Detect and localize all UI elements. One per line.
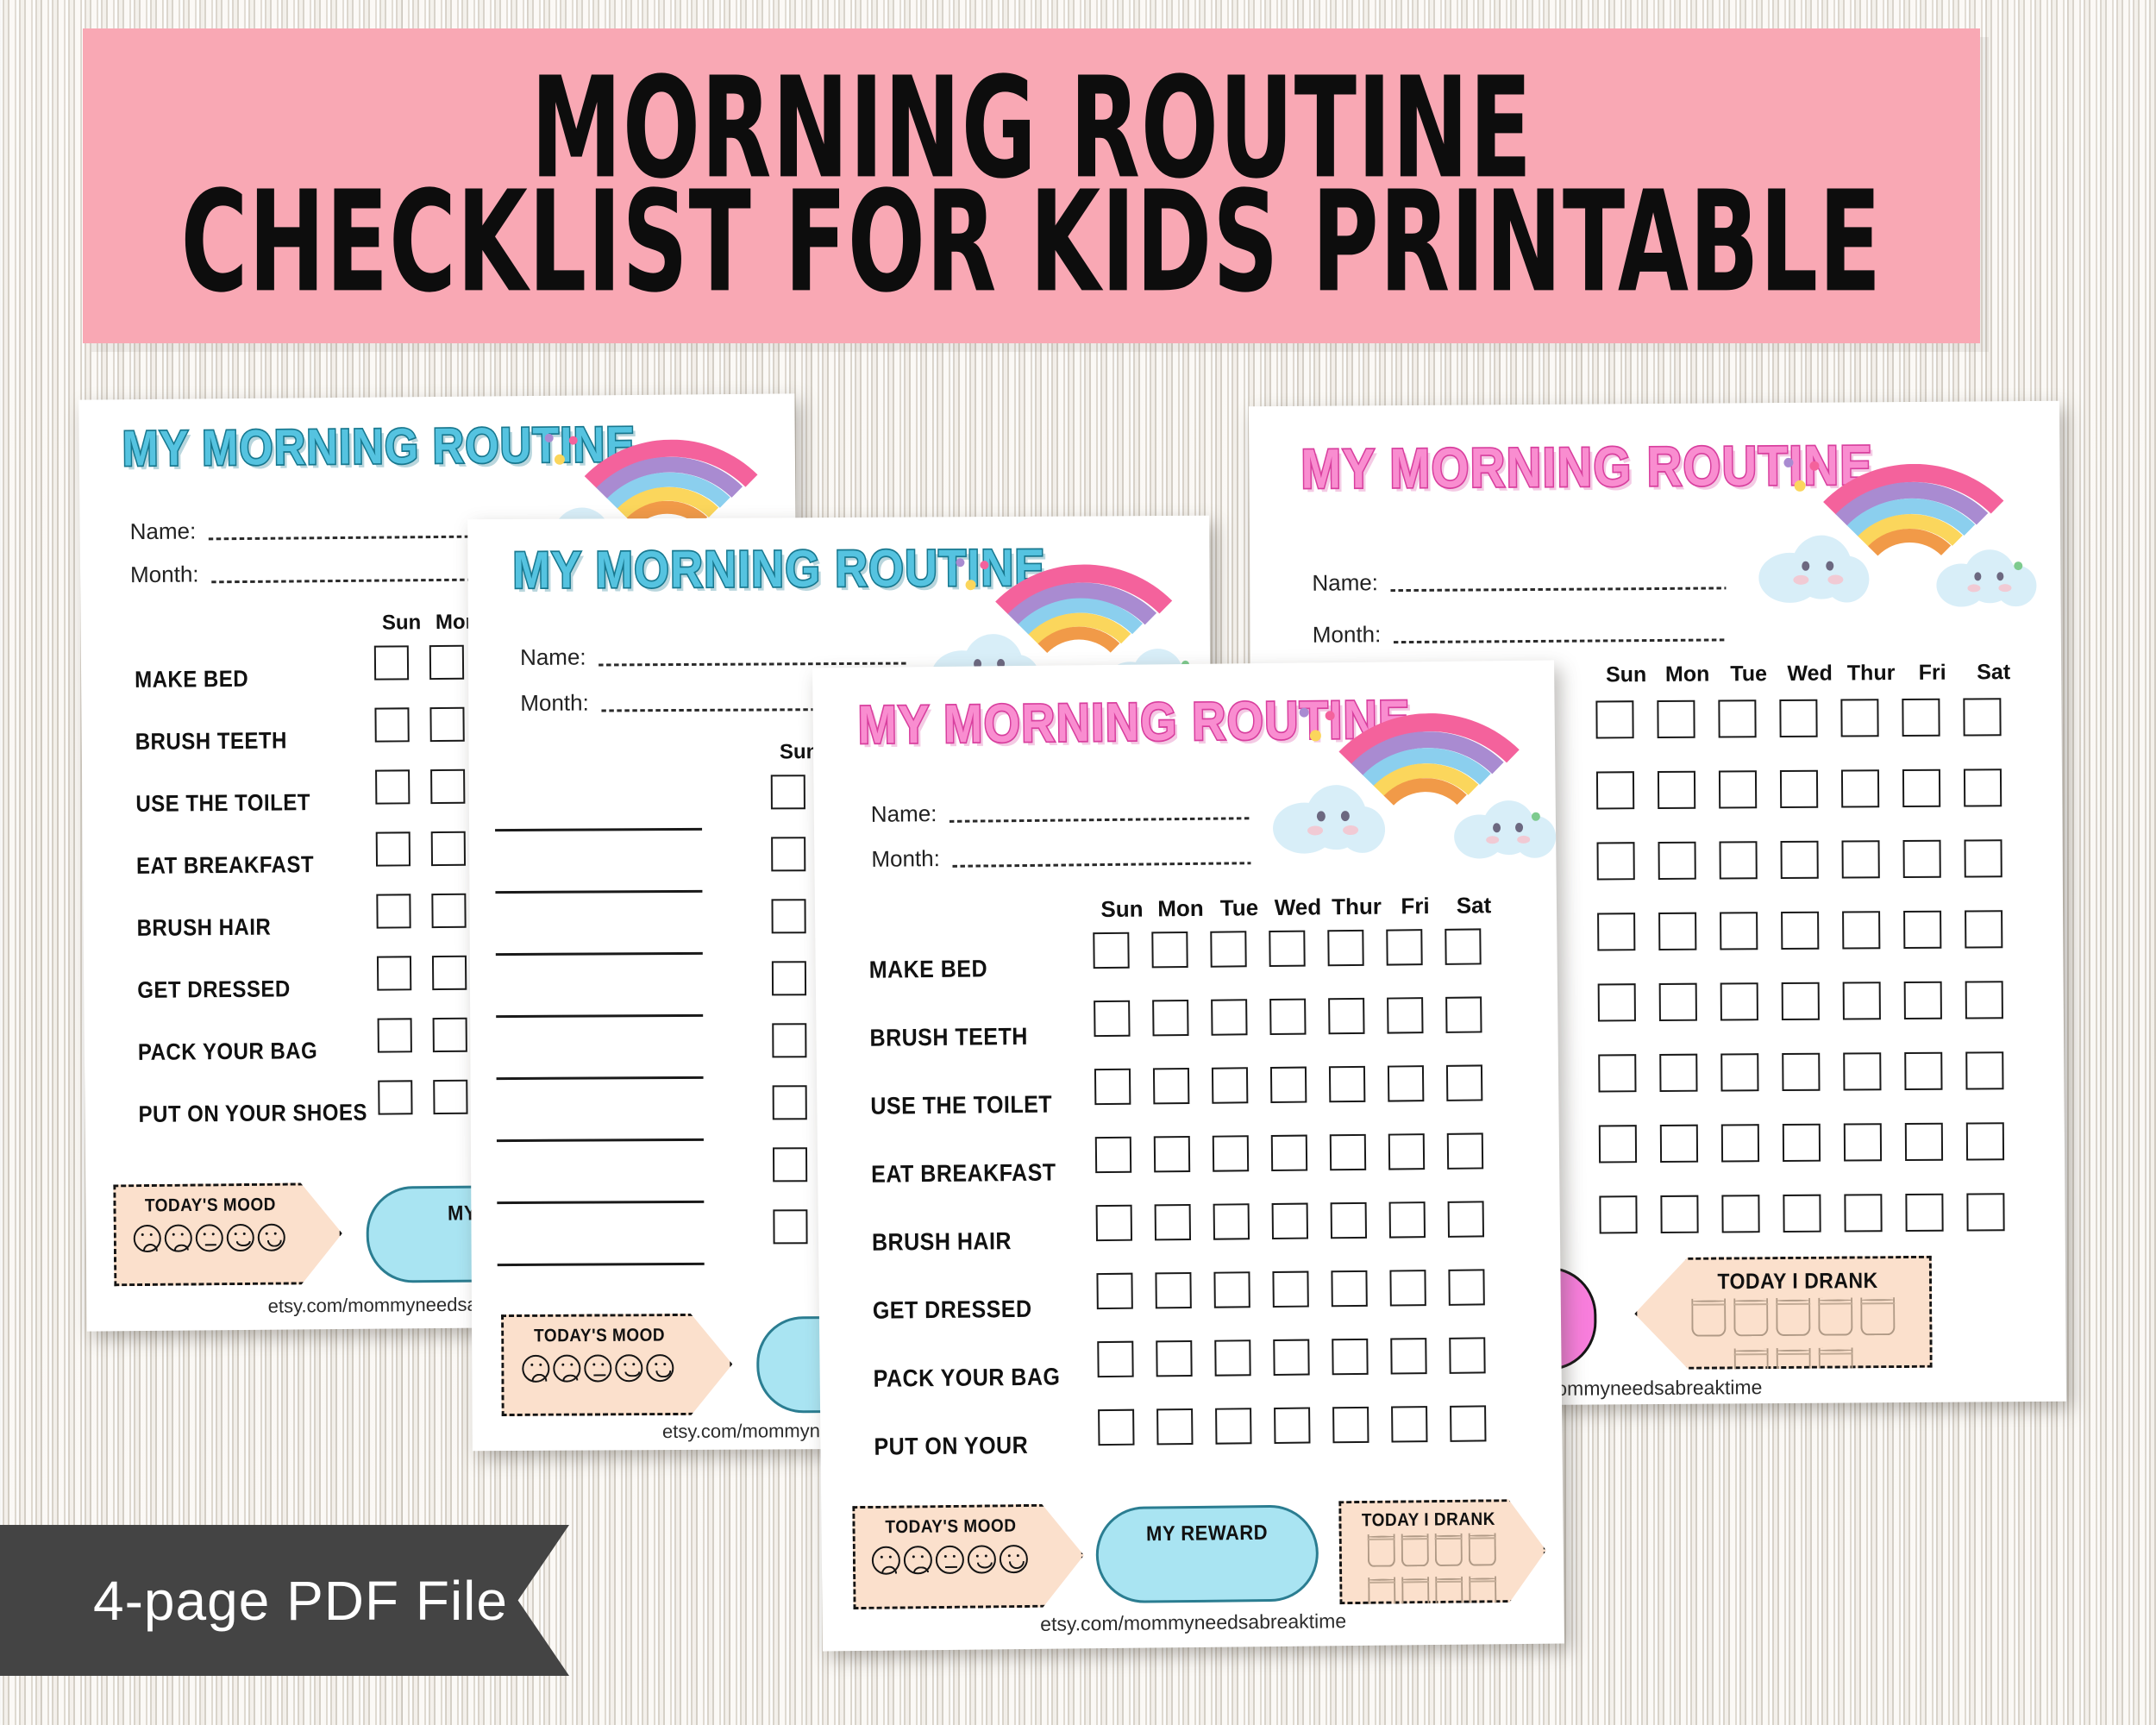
day-header: Fri	[1386, 893, 1445, 920]
mood-face-icon[interactable]	[226, 1224, 254, 1251]
blank-line	[496, 1014, 703, 1018]
day-checkbox[interactable]	[1721, 1124, 1759, 1162]
name-input-line[interactable]	[208, 535, 500, 540]
day-checkbox[interactable]	[1095, 1137, 1131, 1173]
day-checkbox[interactable]	[1782, 982, 1820, 1020]
sheet-2-name-field[interactable]: Name:	[520, 643, 908, 671]
day-checkbox[interactable]	[1330, 1134, 1366, 1170]
face-eye	[663, 1363, 666, 1365]
day-checkbox[interactable]	[1904, 1052, 1942, 1090]
water-cup-icon[interactable]	[1368, 1578, 1395, 1610]
write-in-line[interactable]	[495, 777, 745, 841]
mood-face-icon[interactable]	[257, 1224, 285, 1251]
day-checkbox[interactable]	[1271, 1135, 1307, 1171]
day-checkbox[interactable]	[1332, 1339, 1368, 1375]
face-eye	[274, 1233, 277, 1235]
mood-label: TODAY'S MOOD	[855, 1516, 1046, 1540]
sheet-4-checkbox-grid[interactable]	[1595, 698, 2031, 1266]
day-checkbox[interactable]	[429, 645, 464, 680]
day-checkbox[interactable]	[1783, 1124, 1821, 1162]
day-checkbox[interactable]	[1273, 1339, 1309, 1376]
day-checkbox[interactable]	[771, 837, 805, 871]
write-in-line[interactable]	[496, 901, 746, 965]
checkbox-row	[1096, 1201, 1527, 1241]
face-eye	[243, 1233, 246, 1235]
day-checkbox[interactable]	[1390, 1338, 1426, 1374]
write-in-line[interactable]	[496, 963, 746, 1027]
task-label: EAT BREAKFAST	[136, 830, 370, 901]
day-checkbox[interactable]	[1902, 769, 1940, 807]
checkbox-row	[1596, 768, 2028, 809]
day-checkbox[interactable]	[771, 775, 805, 809]
day-checkbox[interactable]	[1599, 1195, 1637, 1233]
day-checkbox[interactable]	[432, 956, 467, 990]
face-mouth	[143, 1244, 159, 1251]
day-checkbox[interactable]	[1274, 1408, 1310, 1444]
sheet-2-mood-widget[interactable]: TODAY'S MOOD	[501, 1314, 733, 1416]
day-checkbox[interactable]	[1331, 1270, 1367, 1307]
drank-label: TODAY I DRANK	[1341, 1509, 1515, 1532]
day-checkbox[interactable]	[1327, 930, 1363, 966]
day-checkbox[interactable]	[1963, 698, 2001, 736]
day-checkbox[interactable]	[1843, 1052, 1881, 1090]
day-checkbox[interactable]	[1270, 1067, 1307, 1103]
task-label: BRUSH HAIR	[136, 892, 370, 963]
day-checkbox[interactable]	[1902, 699, 1940, 737]
mood-face-icon[interactable]	[615, 1354, 642, 1382]
day-checkbox[interactable]	[1720, 982, 1758, 1020]
day-checkbox[interactable]	[1660, 1125, 1698, 1163]
face-eye	[539, 1364, 542, 1366]
day-checkbox[interactable]	[1659, 983, 1697, 1021]
task-label: PUT ON YOUR SHOES	[874, 1407, 1090, 1485]
checkbox-row	[1095, 1132, 1526, 1173]
day-checkbox[interactable]	[1094, 1069, 1131, 1105]
day-checkbox[interactable]	[1599, 1125, 1637, 1163]
day-checkbox[interactable]	[1215, 1408, 1251, 1444]
day-checkbox[interactable]	[772, 961, 806, 995]
mood-face-icon[interactable]	[584, 1354, 611, 1382]
sheet-4-name-field[interactable]: Name:	[1312, 567, 1726, 596]
day-checkbox[interactable]	[1213, 1203, 1250, 1239]
day-checkbox[interactable]	[431, 831, 466, 866]
day-checkbox[interactable]	[376, 894, 411, 928]
sheet-4-drank-widget[interactable]: TODAY I DRANK	[1634, 1256, 1933, 1370]
day-checkbox[interactable]	[1212, 1067, 1248, 1103]
month-input-line[interactable]	[952, 862, 1251, 868]
day-checkbox[interactable]	[1905, 1194, 1943, 1232]
day-checkbox[interactable]	[1779, 699, 1817, 737]
day-checkbox[interactable]	[1213, 1271, 1250, 1308]
day-checkbox[interactable]	[1155, 1204, 1191, 1240]
water-cup-icon[interactable]	[1733, 1298, 1768, 1336]
day-checkbox[interactable]	[1783, 1195, 1821, 1233]
day-checkbox[interactable]	[1844, 1194, 1882, 1232]
mood-face-icon[interactable]	[553, 1355, 580, 1383]
checkbox-row	[1596, 839, 2028, 880]
day-checkbox[interactable]	[1902, 840, 1940, 878]
write-in-line[interactable]	[497, 1212, 747, 1276]
month-label: Month:	[520, 690, 589, 717]
face-mouth	[563, 1375, 578, 1381]
mood-face-icon[interactable]	[646, 1354, 674, 1382]
day-header: Sun	[373, 611, 429, 636]
water-cup-icon[interactable]	[1435, 1577, 1463, 1609]
day-checkbox[interactable]	[773, 1085, 807, 1120]
day-checkbox[interactable]	[1450, 1405, 1486, 1441]
mood-face-icon[interactable]	[133, 1225, 160, 1252]
day-checkbox[interactable]	[773, 1147, 807, 1182]
day-checkbox[interactable]	[1449, 1337, 1485, 1373]
day-checkbox[interactable]	[1595, 700, 1633, 738]
day-checkbox[interactable]	[1391, 1406, 1427, 1442]
task-label: PUT ON YOUR SHOES	[138, 1078, 372, 1150]
sheet-2-write-in-lines[interactable]	[495, 777, 748, 1276]
day-checkbox[interactable]	[1445, 996, 1482, 1032]
task-label: PACK YOUR BAG	[873, 1339, 1089, 1417]
water-cup-icon[interactable]	[1818, 1297, 1852, 1335]
day-checkbox[interactable]	[1658, 913, 1696, 950]
day-checkbox[interactable]	[1658, 771, 1695, 809]
face-eye	[943, 1555, 946, 1558]
day-checkbox[interactable]	[1155, 1272, 1191, 1308]
mood-face-icon[interactable]	[522, 1355, 549, 1383]
sheet-3-task-list: MAKE BEDBRUSH TEETHUSE THE TOILETEAT BRE…	[868, 934, 1090, 1482]
face-mouth	[594, 1375, 605, 1377]
day-checkbox[interactable]	[433, 1018, 467, 1052]
day-checkbox[interactable]	[1098, 1409, 1134, 1446]
day-checkbox[interactable]	[1904, 982, 1942, 1019]
face-eye	[212, 1233, 215, 1236]
day-checkbox[interactable]	[1151, 931, 1188, 968]
month-input-line[interactable]	[211, 578, 502, 583]
day-checkbox[interactable]	[1596, 771, 1634, 809]
month-input-line[interactable]	[1393, 638, 1727, 643]
mood-face-icon[interactable]	[999, 1545, 1027, 1573]
checkbox-row	[1599, 1193, 2030, 1233]
face-mouth	[1009, 1561, 1025, 1569]
day-checkbox[interactable]	[1965, 1051, 2003, 1089]
day-checkbox[interactable]	[1210, 931, 1246, 967]
sheet-4-day-header-row: Sun Mon Tue Wed Thur Fri Sat	[1595, 660, 2027, 687]
checkbox-row	[1094, 996, 1525, 1037]
sheet-3-month-field[interactable]: Month:	[871, 842, 1250, 873]
cloud-left-icon	[1758, 530, 1870, 603]
day-checkbox[interactable]	[1841, 840, 1879, 878]
day-checkbox[interactable]	[378, 1080, 412, 1114]
face-mouth	[977, 1563, 993, 1569]
write-in-line[interactable]	[495, 839, 745, 903]
face-mouth	[267, 1239, 283, 1247]
day-checkbox[interactable]	[1447, 1132, 1483, 1169]
day-checkbox[interactable]	[1156, 1340, 1192, 1377]
sheet-3-day-header-row: Sun Mon Tue Wed Thur Fri Sat	[1093, 892, 1524, 923]
day-checkbox[interactable]	[1332, 1407, 1369, 1443]
day-checkbox[interactable]	[771, 899, 805, 933]
day-checkbox[interactable]	[1657, 700, 1695, 738]
day-checkbox[interactable]	[1598, 983, 1636, 1021]
sheet-3-cup-row	[1354, 1533, 1510, 1615]
day-checkbox[interactable]	[1097, 1341, 1133, 1377]
day-checkbox[interactable]	[1719, 770, 1757, 808]
sheet-1-name-field[interactable]: Name:	[130, 515, 501, 545]
mood-label: TODAY'S MOOD	[504, 1326, 695, 1347]
write-in-line[interactable]	[497, 1150, 747, 1214]
day-checkbox[interactable]	[1782, 1053, 1820, 1091]
reward-label: MY REWARD	[1098, 1520, 1315, 1546]
day-checkbox[interactable]	[1213, 1135, 1249, 1171]
checkbox-row	[1093, 928, 1524, 969]
mood-face-icon[interactable]	[903, 1546, 931, 1574]
day-checkbox[interactable]	[1272, 1203, 1308, 1239]
sheet-3-mood-faces[interactable]	[856, 1545, 1044, 1575]
face-eye	[204, 1233, 206, 1236]
task-label: MAKE BED	[868, 931, 1085, 1009]
day-checkbox[interactable]	[1331, 1202, 1367, 1239]
checkbox-row	[1098, 1405, 1529, 1446]
task-label: PACK YOUR BAG	[138, 1016, 372, 1088]
day-checkbox[interactable]	[1843, 982, 1881, 1019]
day-checkbox[interactable]	[772, 1023, 806, 1057]
mood-face-icon[interactable]	[195, 1224, 222, 1251]
checkbox-row	[1598, 981, 2029, 1021]
day-checkbox[interactable]	[1965, 910, 2002, 948]
day-checkbox[interactable]	[1388, 1133, 1425, 1170]
day-checkbox[interactable]	[1269, 931, 1305, 967]
name-label: Name:	[1312, 569, 1378, 597]
blank-line	[496, 952, 703, 956]
day-checkbox[interactable]	[431, 894, 466, 928]
water-cup-icon[interactable]	[1691, 1298, 1726, 1336]
day-checkbox[interactable]	[1329, 1066, 1365, 1102]
blank-line	[495, 828, 702, 831]
task-label: GET DRESSED	[872, 1270, 1088, 1349]
day-checkbox[interactable]	[375, 769, 410, 804]
day-checkbox[interactable]	[1387, 997, 1423, 1033]
mood-face-icon[interactable]	[967, 1545, 995, 1573]
day-checkbox[interactable]	[1721, 1195, 1759, 1233]
printable-sheet-3[interactable]: MY MORNING ROUTINE Name: Month:	[812, 661, 1564, 1652]
day-header: Mon	[1657, 662, 1718, 687]
day-checkbox[interactable]	[1388, 1065, 1424, 1101]
sheet-1-mood-faces[interactable]	[116, 1223, 302, 1252]
face-eye	[1007, 1554, 1010, 1557]
face-mouth	[236, 1241, 251, 1247]
day-checkbox[interactable]	[1781, 912, 1819, 950]
sheet-3-mood-widget[interactable]: TODAY'S MOOD	[852, 1503, 1084, 1609]
day-checkbox[interactable]	[1152, 1000, 1188, 1036]
checkbox-row	[1595, 698, 2027, 738]
sheet-1-mood-widget[interactable]: TODAY'S MOOD	[113, 1182, 342, 1286]
water-cup-icon[interactable]	[1469, 1576, 1496, 1609]
mood-face-icon[interactable]	[164, 1225, 191, 1252]
sheet-3-reward-box[interactable]: MY REWARD	[1095, 1504, 1319, 1603]
task-label: EAT BREAKFAST	[871, 1134, 1087, 1213]
face-eye	[181, 1233, 184, 1236]
day-checkbox[interactable]	[1448, 1201, 1484, 1237]
day-checkbox[interactable]	[1844, 1123, 1882, 1161]
day-checkbox[interactable]	[1093, 932, 1129, 969]
day-checkbox[interactable]	[1153, 1068, 1189, 1104]
face-mouth	[532, 1374, 547, 1382]
day-checkbox[interactable]	[1211, 999, 1247, 1035]
checkbox-row	[1096, 1269, 1527, 1309]
day-checkbox[interactable]	[1842, 911, 1880, 949]
name-input-line[interactable]	[599, 662, 908, 667]
day-checkbox[interactable]	[1719, 841, 1757, 879]
face-eye	[235, 1233, 237, 1235]
blank-line	[497, 1201, 704, 1204]
day-checkbox[interactable]	[1966, 1193, 2004, 1231]
day-checkbox[interactable]	[1094, 1000, 1130, 1037]
day-checkbox[interactable]	[377, 956, 411, 990]
face-eye	[655, 1364, 657, 1366]
water-cup-icon[interactable]	[1468, 1533, 1495, 1565]
day-checkbox[interactable]	[1386, 929, 1422, 965]
face-eye	[889, 1555, 892, 1558]
day-checkbox[interactable]	[429, 707, 464, 742]
face-eye	[266, 1233, 268, 1235]
day-checkbox[interactable]	[433, 1080, 467, 1114]
day-checkbox[interactable]	[1720, 912, 1758, 950]
day-checkbox[interactable]	[1272, 1271, 1308, 1308]
sheet-2-mood-faces[interactable]	[504, 1354, 692, 1383]
day-checkbox[interactable]	[1448, 1269, 1484, 1305]
sheet-4-month-field[interactable]: Month:	[1313, 618, 1727, 648]
sheet-1-month-field[interactable]: Month:	[130, 558, 501, 588]
water-cup-icon[interactable]	[1401, 1577, 1429, 1609]
day-header: Thur	[1327, 894, 1386, 921]
water-cup-icon[interactable]	[1434, 1534, 1462, 1566]
mood-label: TODAY'S MOOD	[116, 1195, 304, 1217]
day-checkbox[interactable]	[376, 831, 411, 866]
task-label: USE THE TOILET	[135, 768, 369, 839]
day-header: Mon	[1151, 895, 1210, 923]
mood-face-icon[interactable]	[935, 1546, 963, 1574]
day-checkbox[interactable]	[1905, 1123, 1943, 1161]
day-checkbox[interactable]	[1096, 1273, 1132, 1309]
face-eye	[592, 1364, 595, 1366]
day-checkbox[interactable]	[1597, 913, 1635, 950]
day-checkbox[interactable]	[773, 1209, 807, 1244]
water-cup-icon[interactable]	[1860, 1297, 1895, 1335]
write-in-line[interactable]	[497, 1088, 747, 1151]
task-label: BRUSH TEETH	[869, 999, 1086, 1077]
task-label: BRUSH TEETH	[135, 706, 368, 777]
day-checkbox[interactable]	[1964, 768, 2002, 806]
write-in-line[interactable]	[496, 1026, 746, 1089]
day-checkbox[interactable]	[1598, 1054, 1636, 1092]
banner-line-2: CHECKLIST FOR KIDS PRINTABLE	[181, 176, 1883, 310]
task-label: BRUSH HAIR	[872, 1202, 1088, 1281]
face-eye	[1017, 1554, 1019, 1557]
face-eye	[912, 1555, 914, 1558]
cloud-right-icon	[1936, 546, 2038, 607]
water-cup-icon[interactable]	[1401, 1534, 1428, 1566]
day-checkbox[interactable]	[1214, 1339, 1250, 1376]
day-checkbox[interactable]	[1154, 1136, 1190, 1172]
day-checkbox[interactable]	[374, 645, 409, 680]
task-label: MAKE BED	[135, 643, 368, 715]
sheet-3-checkbox-grid[interactable]	[1093, 928, 1530, 1477]
name-label: Name:	[130, 517, 197, 545]
day-checkbox[interactable]	[1658, 842, 1695, 880]
day-checkbox[interactable]	[1966, 1122, 2004, 1160]
day-checkbox[interactable]	[1840, 699, 1878, 737]
month-label: Month:	[1313, 621, 1382, 649]
day-checkbox[interactable]	[1445, 928, 1481, 964]
day-header: Wed	[1269, 894, 1327, 921]
face-mouth	[174, 1245, 189, 1251]
day-header: Tue	[1718, 662, 1779, 687]
face-eye	[601, 1364, 604, 1366]
day-checkbox[interactable]	[1389, 1270, 1426, 1306]
blank-line	[497, 1138, 704, 1142]
day-checkbox[interactable]	[1660, 1195, 1698, 1233]
face-mouth	[205, 1244, 216, 1245]
face-eye	[975, 1554, 978, 1557]
day-checkbox[interactable]	[1780, 841, 1818, 879]
day-checkbox[interactable]	[1903, 911, 1941, 949]
day-checkbox[interactable]	[1096, 1205, 1132, 1241]
face-eye	[624, 1364, 626, 1366]
day-checkbox[interactable]	[1389, 1201, 1426, 1238]
day-checkbox[interactable]	[1156, 1408, 1193, 1445]
sheet-3-drank-widget[interactable]: TODAY I DRANK	[1338, 1499, 1546, 1605]
day-checkbox[interactable]	[1780, 770, 1818, 808]
day-header: Sun	[1093, 895, 1151, 923]
drank-label: TODAY I DRANK	[1666, 1267, 1929, 1295]
day-checkbox[interactable]	[1659, 1054, 1697, 1092]
month-label: Month:	[871, 845, 940, 873]
day-checkbox[interactable]	[1965, 981, 2003, 1019]
blank-line	[498, 1263, 705, 1266]
day-checkbox[interactable]	[1720, 1053, 1758, 1091]
name-input-line[interactable]	[949, 817, 1250, 823]
face-eye	[953, 1555, 956, 1558]
day-checkbox[interactable]	[1841, 769, 1879, 807]
name-input-line[interactable]	[1390, 586, 1726, 592]
sheet-3-name-field[interactable]: Name:	[871, 797, 1250, 828]
sheet-3-footer: etsy.com/mommyneedsabreaktime	[823, 1607, 1564, 1638]
day-header: Sun	[1595, 662, 1657, 687]
cloud-left-icon	[1272, 780, 1385, 855]
day-checkbox[interactable]	[1269, 999, 1306, 1035]
day-checkbox[interactable]	[1328, 998, 1364, 1034]
checkbox-row	[1097, 1337, 1528, 1377]
face-eye	[570, 1364, 573, 1366]
water-cup-icon[interactable]	[1776, 1298, 1810, 1336]
checkbox-row	[1597, 910, 2028, 950]
face-eye	[530, 1364, 533, 1366]
day-header: Sat	[1963, 660, 2024, 685]
day-checkbox[interactable]	[374, 707, 409, 742]
day-checkbox[interactable]	[1964, 839, 2002, 877]
day-checkbox[interactable]	[1446, 1064, 1482, 1101]
day-header: Thur	[1840, 661, 1902, 686]
day-checkbox[interactable]	[430, 769, 465, 804]
day-checkbox[interactable]	[1596, 842, 1634, 880]
water-cup-icon[interactable]	[1367, 1534, 1395, 1567]
checkbox-row	[1598, 1051, 2029, 1092]
task-label: GET DRESSED	[137, 954, 371, 1026]
day-checkbox[interactable]	[378, 1018, 412, 1052]
mood-face-icon[interactable]	[871, 1546, 899, 1575]
day-checkbox[interactable]	[1718, 699, 1756, 737]
rainbow-illustration	[1764, 455, 2033, 599]
face-eye	[921, 1555, 924, 1558]
day-header: Tue	[1210, 894, 1269, 922]
